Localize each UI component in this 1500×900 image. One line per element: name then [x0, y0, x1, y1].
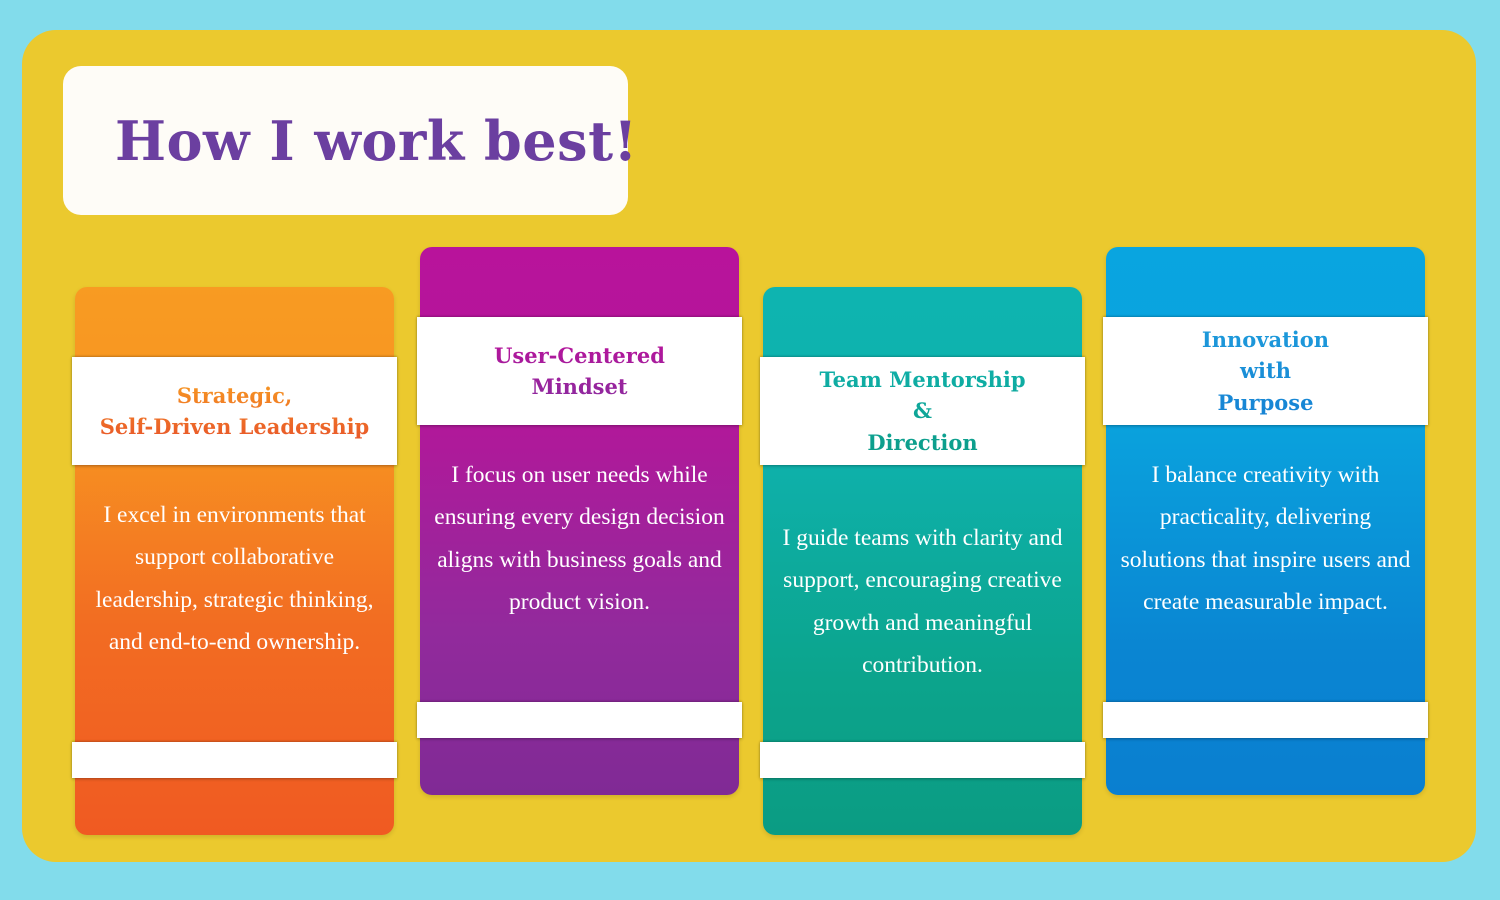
- page-title: How I work best!: [115, 109, 638, 173]
- card-title-bar: Strategic, Self-Driven Leadership: [72, 357, 397, 465]
- card-footer-bar: [72, 742, 397, 778]
- card-body-text: I guide teams with clarity and support, …: [763, 517, 1082, 686]
- card-title-bar: Team Mentorship & Direction: [760, 357, 1085, 465]
- card-body-text: I focus on user needs while ensuring eve…: [420, 454, 739, 623]
- card-title: Innovation with Purpose: [1202, 324, 1329, 417]
- slide-canvas: How I work best! Strategic, Self-Driven …: [0, 0, 1500, 900]
- card-team-mentorship-direction[interactable]: Team Mentorship & Direction I guide team…: [763, 287, 1082, 835]
- card-footer-bar: [417, 702, 742, 738]
- card-title-bar: User-Centered Mindset: [417, 317, 742, 425]
- card-title: Strategic, Self-Driven Leadership: [100, 380, 370, 442]
- card-title: Team Mentorship & Direction: [819, 364, 1025, 457]
- card-user-centered-mindset[interactable]: User-Centered Mindset I focus on user ne…: [420, 247, 739, 795]
- card-body-text: I excel in environments that support col…: [75, 494, 394, 663]
- card-footer-bar: [760, 742, 1085, 778]
- card-footer-bar: [1103, 702, 1428, 738]
- card-innovation-with-purpose[interactable]: Innovation with Purpose I balance creati…: [1106, 247, 1425, 795]
- card-title-bar: Innovation with Purpose: [1103, 317, 1428, 425]
- card-body-text: I balance creativity with practicality, …: [1106, 454, 1425, 623]
- card-title: User-Centered Mindset: [494, 340, 665, 402]
- title-card: How I work best!: [63, 66, 628, 215]
- card-strategic-self-driven-leadership[interactable]: Strategic, Self-Driven Leadership I exce…: [75, 287, 394, 835]
